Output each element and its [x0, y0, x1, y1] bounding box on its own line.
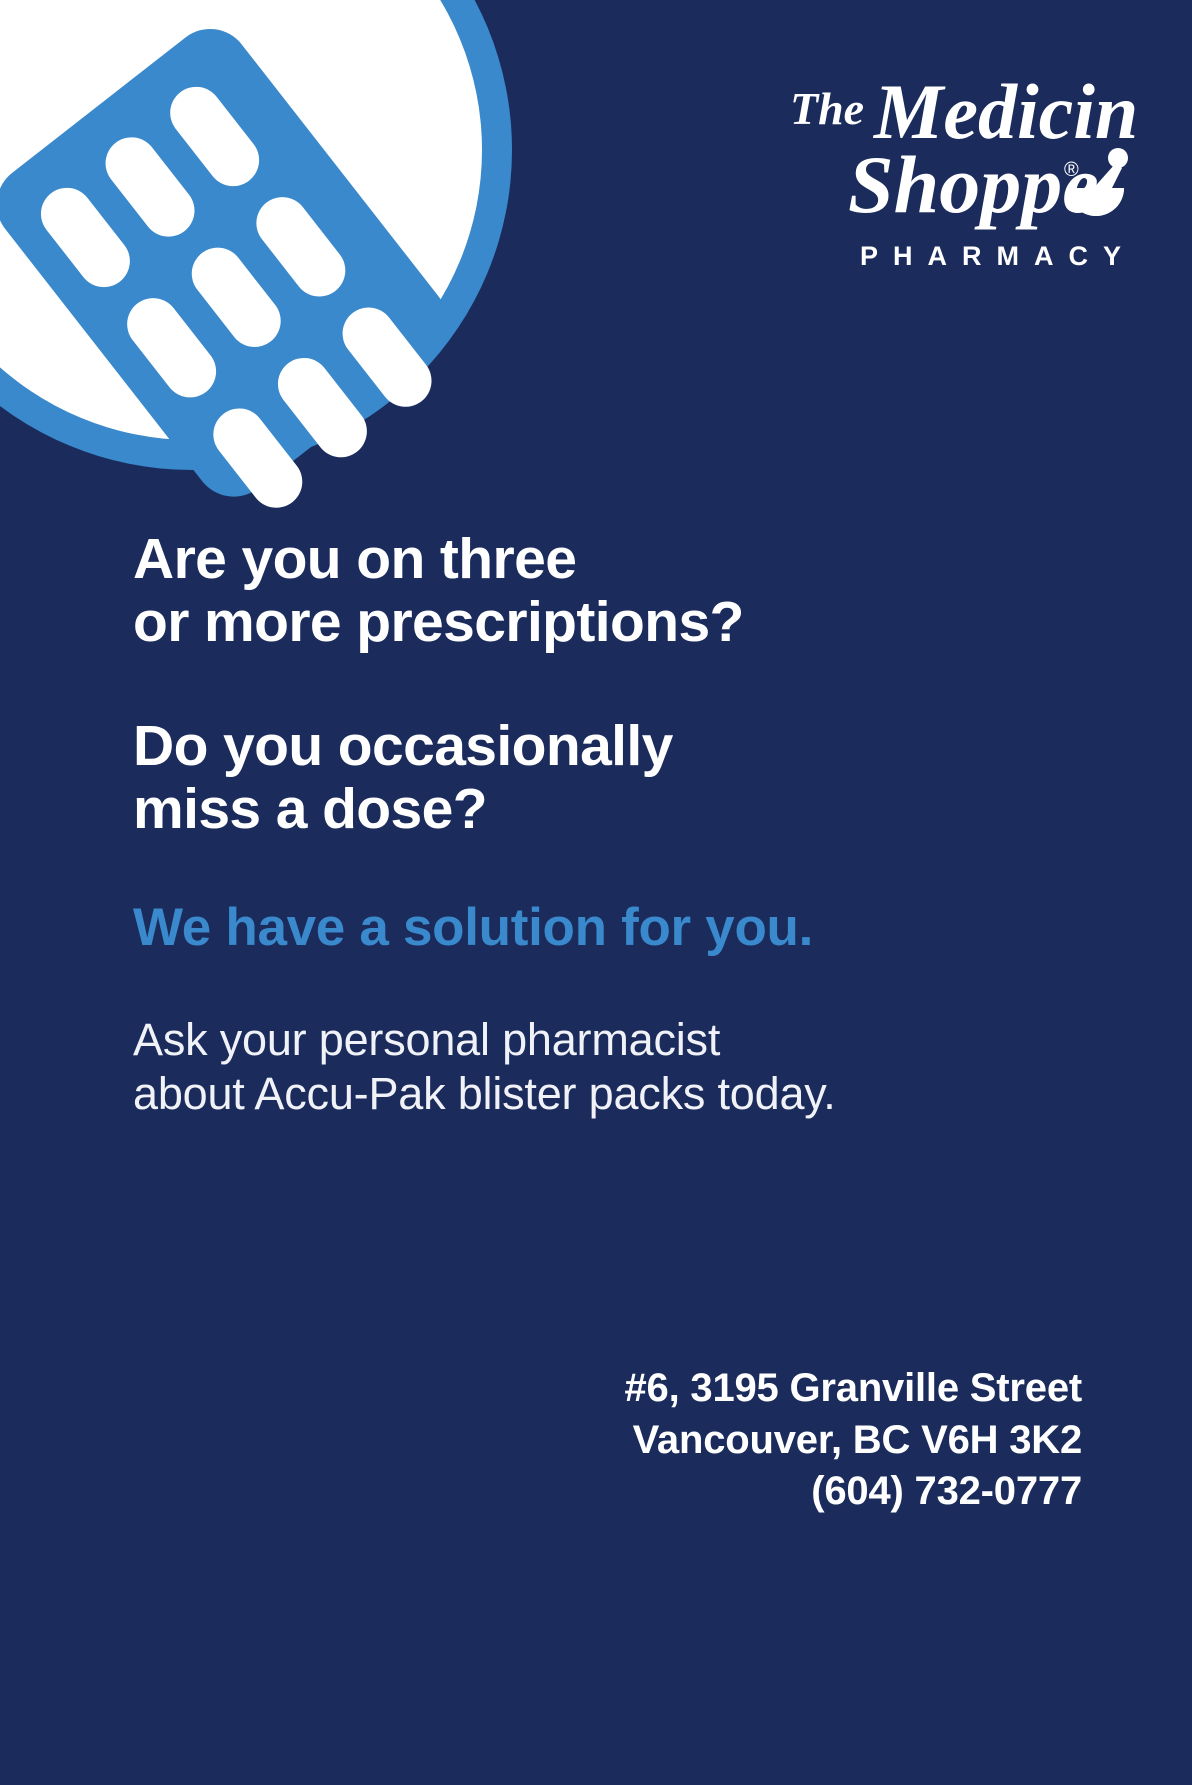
contact-phone[interactable]: (604) 732-0777 — [624, 1466, 1082, 1517]
headline-missed-dose-line2: miss a dose? — [133, 778, 1082, 841]
headline-missed-dose: Do you occasionally miss a dose? — [133, 715, 1082, 842]
logo-the-text: The — [790, 83, 864, 134]
headline-prescriptions: Are you on three or more prescriptions? — [133, 528, 1082, 655]
body-copy-line2: about Accu-Pak blister packs today. — [133, 1067, 1082, 1121]
contact-block: #6, 3195 Granville Street Vancouver, BC … — [624, 1363, 1082, 1517]
headline-prescriptions-line1: Are you on three — [133, 528, 1082, 591]
body-copy: Ask your personal pharmacist about Accu-… — [133, 1013, 1082, 1121]
address-street: #6, 3195 Granville Street — [624, 1363, 1082, 1414]
headline-prescriptions-line2: or more prescriptions? — [133, 591, 1082, 654]
brand-logo: The Medicine Shoppe ® PHARMACY — [738, 72, 1138, 270]
medicine-shoppe-wordmark: The Medicine Shoppe ® — [738, 72, 1138, 237]
body-copy-line1: Ask your personal pharmacist — [133, 1013, 1082, 1067]
address-city-region: Vancouver, BC V6H 3K2 — [624, 1415, 1082, 1466]
headline-missed-dose-line1: Do you occasionally — [133, 715, 1082, 778]
copy-block: Are you on three or more prescriptions? … — [133, 528, 1082, 1121]
blister-pack-badge — [0, 0, 512, 470]
logo-pharmacy-text: PHARMACY — [738, 243, 1138, 270]
registered-trademark-icon: ® — [1064, 159, 1079, 181]
poster-canvas: The Medicine Shoppe ® PHARMACY Are you o… — [0, 0, 1192, 1785]
solution-tagline: We have a solution for you. — [133, 899, 1082, 957]
logo-shoppe-text: Shoppe — [848, 139, 1099, 230]
